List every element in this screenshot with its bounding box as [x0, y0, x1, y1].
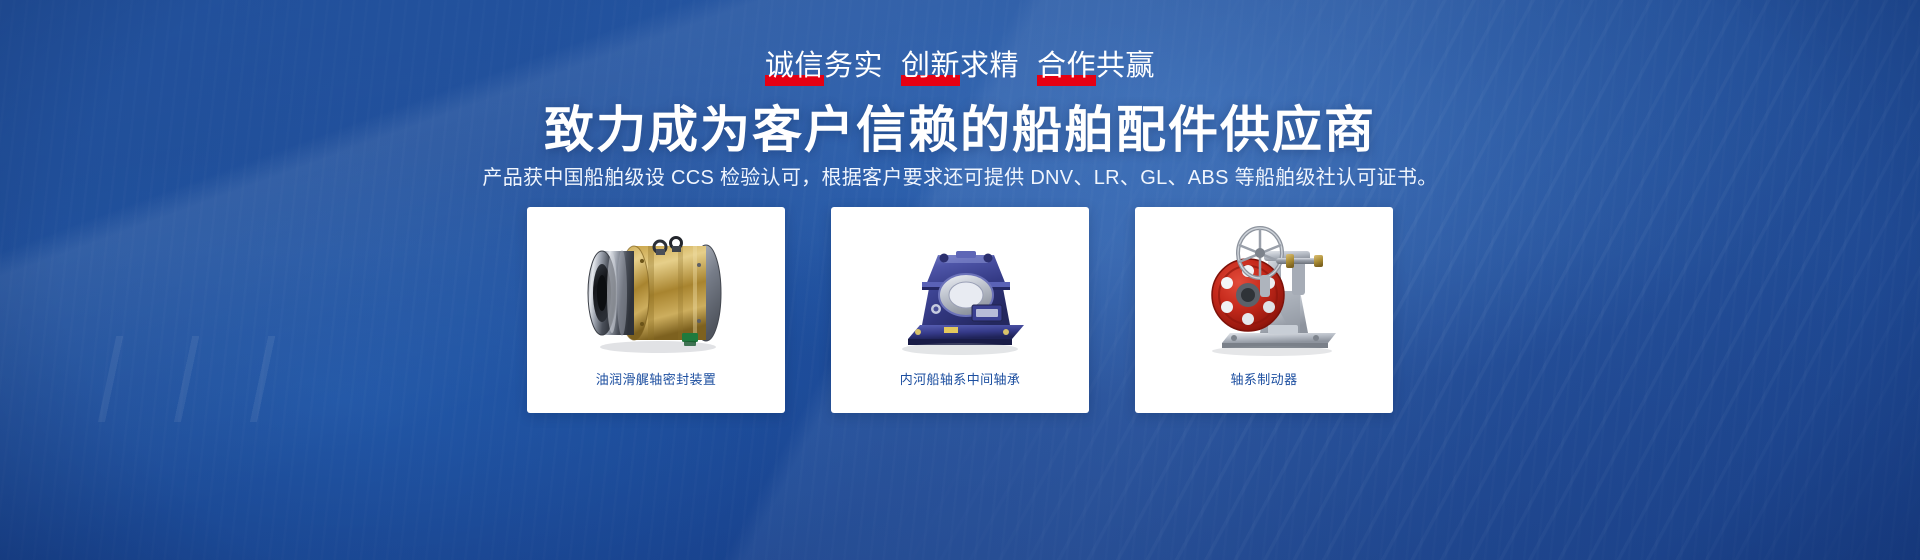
- product-card-caption: 油润滑艉轴密封装置: [596, 369, 717, 388]
- product-card-caption: 内河船轴系中间轴承: [900, 369, 1021, 388]
- tagline-group-1: 诚信务实: [765, 52, 883, 83]
- product-card[interactable]: 油润滑艉轴密封装置: [527, 207, 785, 413]
- intermediate-bearing-image: [855, 217, 1065, 365]
- product-card[interactable]: 内河船轴系中间轴承: [831, 207, 1089, 413]
- product-card[interactable]: 轴系制动器: [1135, 207, 1393, 413]
- banner-tagline: 诚信务实 创新求精 合作共赢: [0, 52, 1920, 83]
- tagline-group-3-text: 合作共赢: [1037, 50, 1155, 82]
- product-card-caption: 轴系制动器: [1230, 369, 1297, 388]
- tagline-group-1-text: 诚信务实: [765, 50, 883, 82]
- stern-shaft-seal-image: [551, 217, 761, 365]
- shafting-brake-image: [1159, 217, 1369, 365]
- banner-headline: 致力成为客户信赖的船舶配件供应商: [0, 100, 1920, 160]
- banner-content: 诚信务实 创新求精 合作共赢 致力成为客户信赖的船舶配件供应商 产品获中国船舶级…: [0, 0, 1920, 560]
- product-card-row: 油润滑艉轴密封装置: [0, 207, 1920, 413]
- banner-subtitle: 产品获中国船舶级设 CCS 检验认可，根据客户要求还可提供 DNV、LR、GL、…: [0, 163, 1920, 193]
- hero-banner: 诚信务实 创新求精 合作共赢 致力成为客户信赖的船舶配件供应商 产品获中国船舶级…: [0, 0, 1920, 560]
- tagline-group-2-text: 创新求精: [901, 50, 1019, 82]
- tagline-group-2: 创新求精: [901, 52, 1019, 83]
- tagline-group-3: 合作共赢: [1037, 52, 1155, 83]
